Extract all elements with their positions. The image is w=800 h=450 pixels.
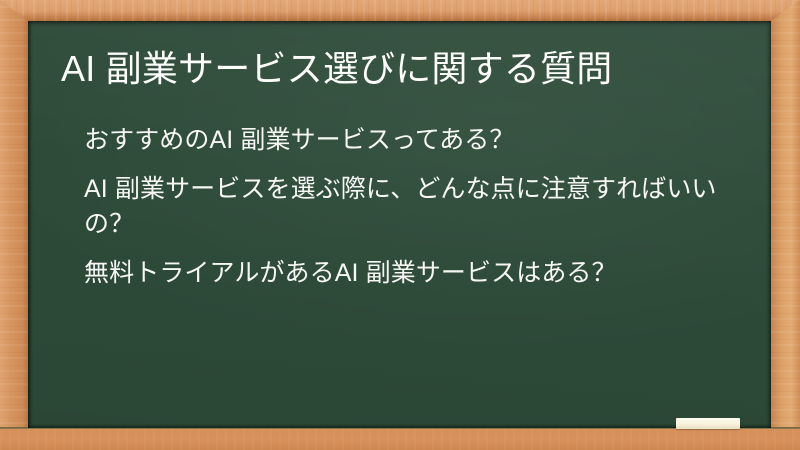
list-item: AI 副業サービスを選ぶ際に、どんな点に注意すればいいの？ [84, 172, 739, 243]
frame-rail-left [0, 0, 28, 450]
question-list: おすすめのAI 副業サービスってある？ AI 副業サービスを選ぶ際に、どんな点に… [84, 123, 739, 291]
chalkboard-surface: AI 副業サービス選びに関する質問 おすすめのAI 副業サービスってある？ AI… [28, 21, 771, 428]
list-item: おすすめのAI 副業サービスってある？ [84, 123, 739, 159]
chalkboard-slide: AI 副業サービス選びに関する質問 おすすめのAI 副業サービスってある？ AI… [0, 0, 800, 450]
page-title: AI 副業サービス選びに関する質問 [61, 47, 751, 91]
frame-rail-top [0, 0, 800, 21]
frame-chalk-ledge [0, 427, 800, 450]
frame-rail-right [771, 0, 800, 450]
list-item: 無料トライアルがあるAI 副業サービスはある？ [84, 256, 739, 292]
chalk-stick-icon [676, 418, 740, 429]
